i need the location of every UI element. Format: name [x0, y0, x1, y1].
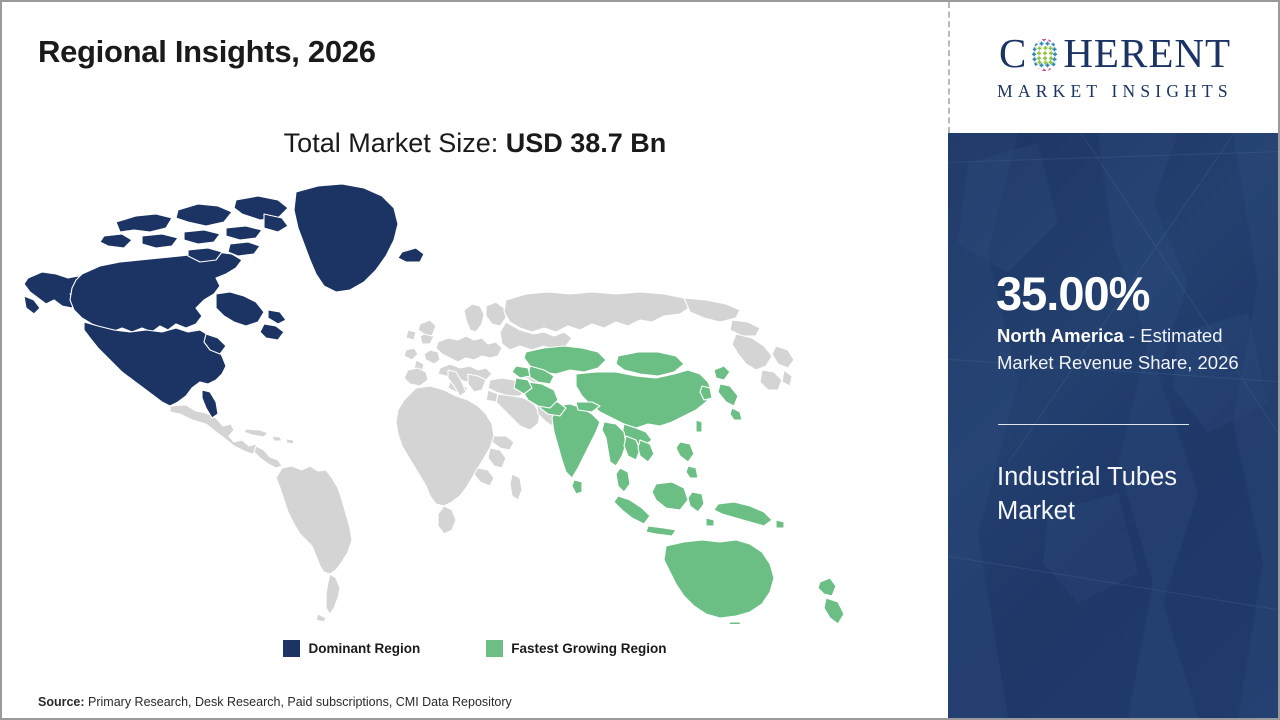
legend-item-fastest-growing: Fastest Growing Region	[486, 640, 666, 657]
source-text: Primary Research, Desk Research, Paid su…	[85, 695, 512, 709]
stat-description: North America - Estimated Market Revenue…	[997, 323, 1265, 376]
source-label: Source:	[38, 695, 85, 709]
globe-sphere-icon	[1028, 38, 1062, 72]
stat-value: 35.00%	[996, 270, 1149, 317]
left-content-area: Regional Insights, 2026 Total Market Siz…	[2, 2, 948, 718]
vertical-dashed-divider	[948, 2, 950, 133]
market-name: Industrial Tubes Market	[997, 461, 1259, 529]
square-swatch-icon	[486, 640, 503, 657]
brand-logo: C	[952, 2, 1278, 133]
legend-label: Fastest Growing Region	[511, 641, 666, 656]
logo-wordmark: C	[999, 33, 1231, 74]
logo-letters-herent: HERENT	[1063, 33, 1231, 74]
legend-label: Dominant Region	[308, 641, 420, 656]
source-note: Source: Primary Research, Desk Research,…	[38, 695, 512, 709]
panel-divider-rule	[998, 424, 1189, 425]
stat-panel: 35.00% North America - Estimated Market …	[948, 133, 1278, 718]
market-size-value: USD 38.7 Bn	[506, 128, 667, 158]
world-map	[20, 174, 920, 624]
stat-region-name: North America	[997, 325, 1124, 346]
page-title: Regional Insights, 2026	[38, 34, 376, 70]
square-swatch-icon	[283, 640, 300, 657]
logo-letter-c: C	[999, 33, 1027, 74]
map-legend: Dominant Region Fastest Growing Region	[2, 640, 948, 657]
map-region-fastest-growing	[512, 346, 844, 624]
market-size-label: Total Market Size:	[284, 128, 506, 158]
legend-item-dominant: Dominant Region	[283, 640, 420, 657]
total-market-size: Total Market Size: USD 38.7 Bn	[2, 128, 948, 159]
map-region-dominant	[24, 184, 424, 418]
logo-tagline: MARKET INSIGHTS	[997, 81, 1233, 102]
stat-panel-content: 35.00% North America - Estimated Market …	[996, 133, 1278, 718]
infographic-page: Regional Insights, 2026 Total Market Siz…	[0, 0, 1280, 720]
